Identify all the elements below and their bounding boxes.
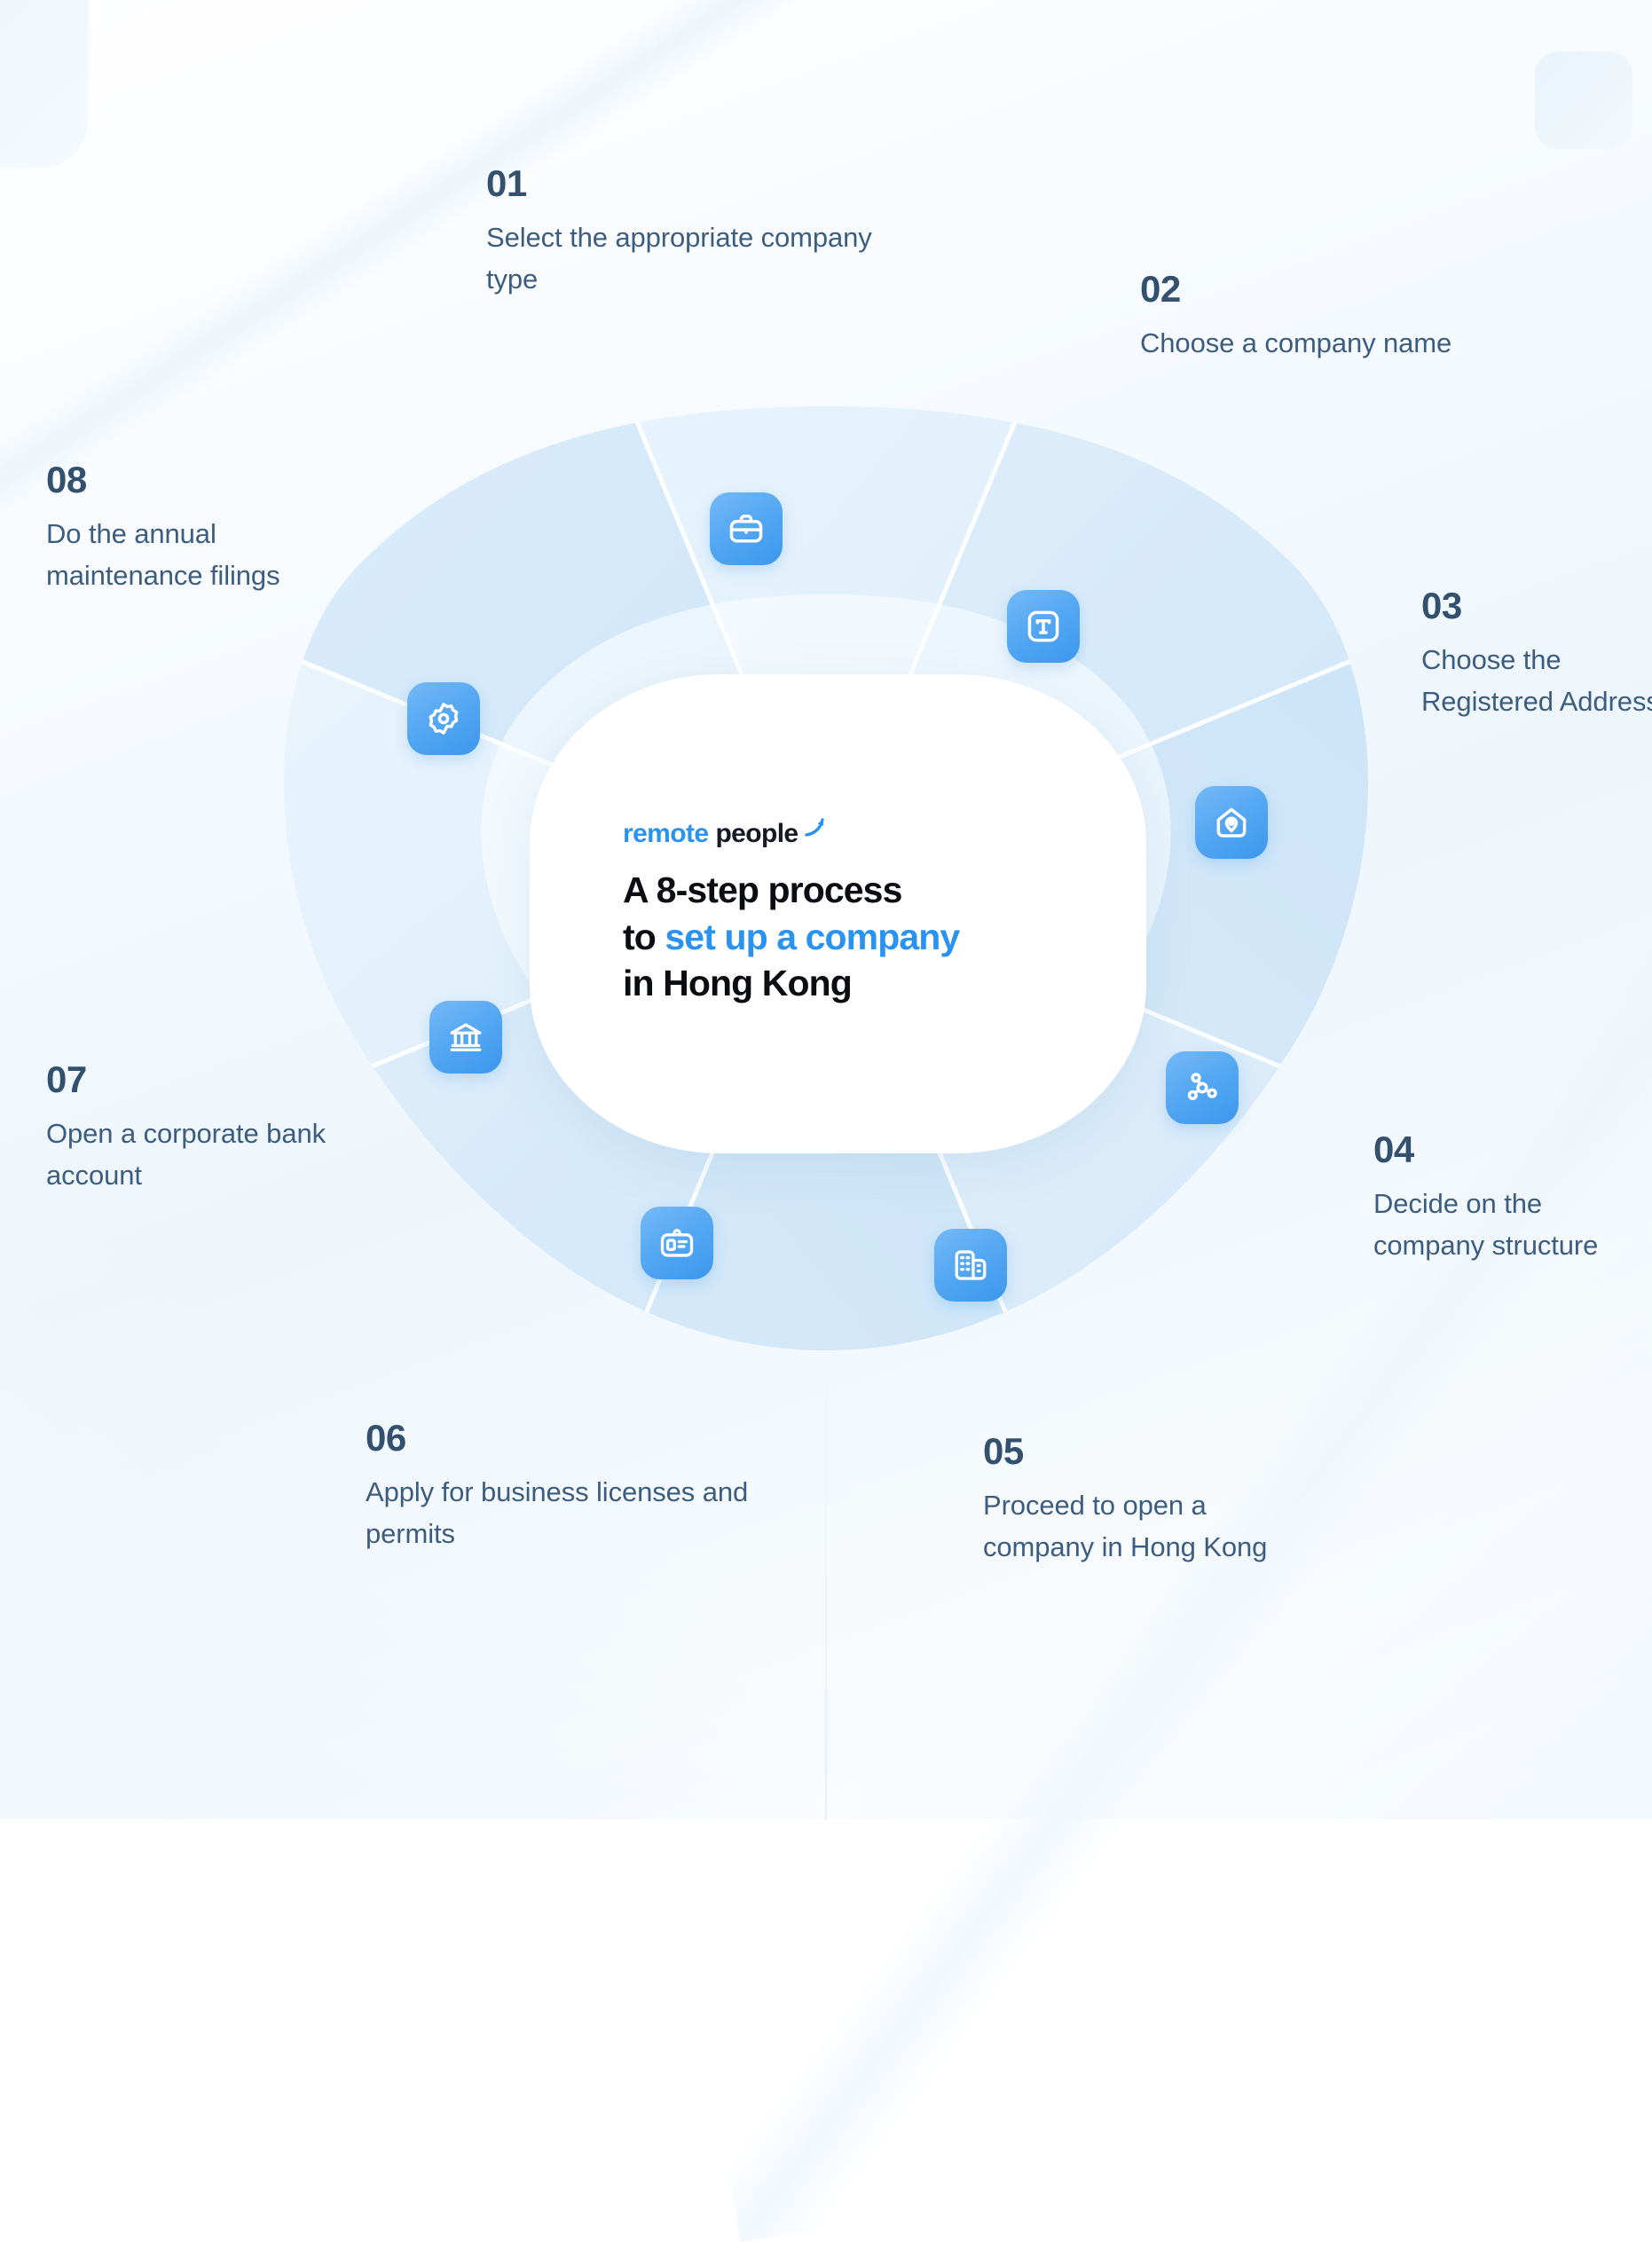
step-number: 02 [1140,271,1522,308]
step-item-07: 07 Open a corporate bank account [46,1061,401,1196]
title-line-1: A 8-step process [623,867,959,913]
background-shape-top-left [0,0,89,169]
title-line-2-plain: to [623,916,665,957]
step-item-02: 02 Choose a company name [1140,271,1522,364]
step-number: 01 [486,165,903,202]
swoosh-icon [804,816,827,839]
step-item-05: 05 Proceed to open a company in Hong Kon… [983,1433,1302,1568]
background-vertical-divider [825,1322,827,1819]
title-line-2-highlight: set up a company [665,916,959,957]
step-number: 05 [983,1433,1302,1470]
step-label: Apply for business licenses and permits [366,1471,765,1554]
title-line-3: in Hong Kong [623,960,959,1006]
gear-icon [407,682,480,755]
step-number: 07 [46,1061,401,1098]
step-number: 06 [366,1420,765,1457]
center-card: remote people A 8-step process to set up… [530,674,1146,1153]
page-title: A 8-step process to set up a company in … [623,867,959,1006]
step-label: Do the annual maintenance filings [46,513,330,596]
step-number: 04 [1373,1131,1640,1168]
step-number: 08 [46,461,330,499]
id-badge-icon [641,1207,713,1279]
step-item-03: 03 Choose the Registered Address [1421,587,1652,722]
step-label: Proceed to open a company in Hong Kong [983,1484,1302,1568]
step-label: Decide on the company structure [1373,1183,1640,1266]
title-line-2: to set up a company [623,914,959,960]
bank-icon [429,1001,502,1074]
text-box-icon [1007,590,1080,663]
step-item-04: 04 Decide on the company structure [1373,1131,1640,1266]
org-network-icon [1166,1051,1239,1124]
background-shape-top-right [1535,51,1632,149]
step-number: 03 [1421,587,1652,625]
logo-word-people: people [715,821,798,847]
home-location-pin-icon [1195,786,1268,859]
step-label: Choose the Registered Address [1421,639,1652,722]
briefcase-icon [710,492,783,565]
logo-word-remote: remote [623,821,708,847]
step-item-06: 06 Apply for business licenses and permi… [366,1420,765,1554]
office-buildings-icon [934,1229,1007,1302]
step-label: Select the appropriate company type [486,216,903,300]
brand-logo: remote people [623,821,827,847]
step-item-01: 01 Select the appropriate company type [486,165,903,300]
step-item-08: 08 Do the annual maintenance filings [46,461,330,596]
step-label: Choose a company name [1140,322,1522,364]
step-label: Open a corporate bank account [46,1113,401,1196]
